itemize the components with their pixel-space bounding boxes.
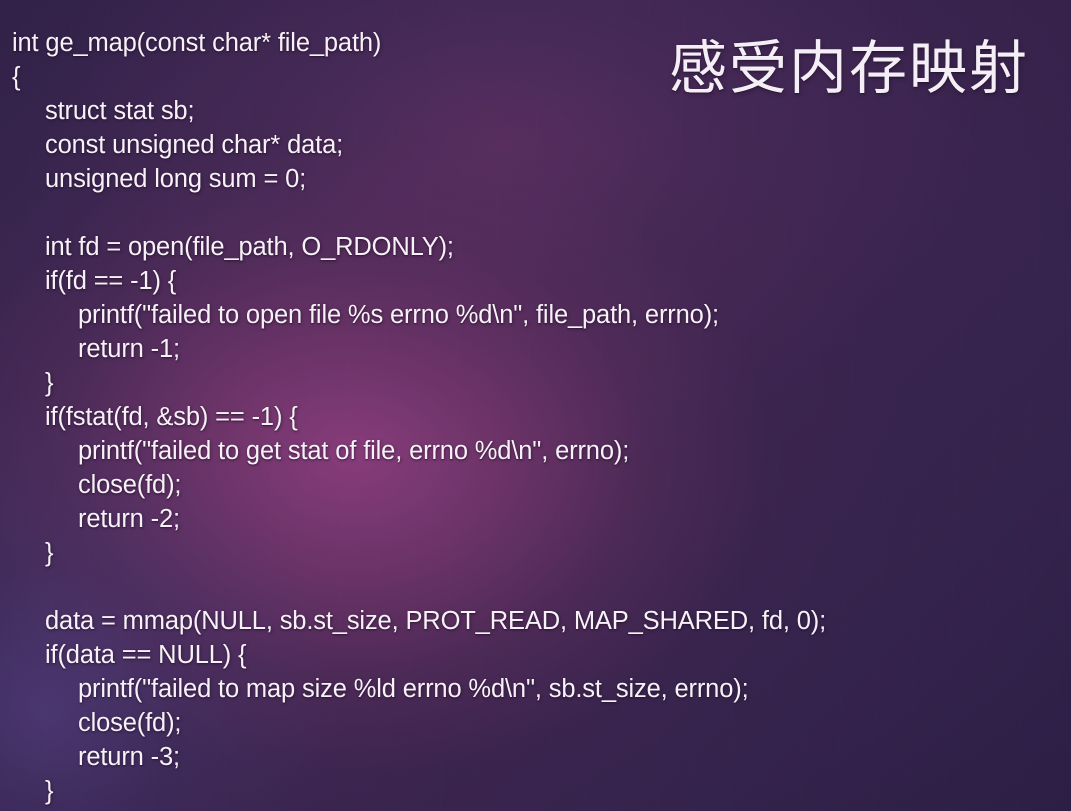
presentation-slide: 感受内存映射 int ge_map(const char* file_path)… [0,0,1071,811]
code-line: } [0,536,1071,570]
code-line: int ge_map(const char* file_path) [0,26,1071,60]
code-line: return -2; [0,502,1071,536]
code-line: { [0,60,1071,94]
code-line: int fd = open(file_path, O_RDONLY); [0,230,1071,264]
code-line: } [0,366,1071,400]
code-block: int ge_map(const char* file_path){struct… [0,26,1071,808]
code-line: return -3; [0,740,1071,774]
code-line: if(data == NULL) { [0,638,1071,672]
code-line: unsigned long sum = 0; [0,162,1071,196]
code-line: const unsigned char* data; [0,128,1071,162]
code-line: printf("failed to get stat of file, errn… [0,434,1071,468]
code-line: data = mmap(NULL, sb.st_size, PROT_READ,… [0,604,1071,638]
code-line: struct stat sb; [0,94,1071,128]
code-line: if(fd == -1) { [0,264,1071,298]
code-line-blank [0,196,1071,230]
code-line-blank [0,570,1071,604]
code-line: printf("failed to open file %s errno %d\… [0,298,1071,332]
code-line: } [0,774,1071,808]
code-line: close(fd); [0,468,1071,502]
code-line: if(fstat(fd, &sb) == -1) { [0,400,1071,434]
code-line: close(fd); [0,706,1071,740]
code-line: printf("failed to map size %ld errno %d\… [0,672,1071,706]
code-line: return -1; [0,332,1071,366]
